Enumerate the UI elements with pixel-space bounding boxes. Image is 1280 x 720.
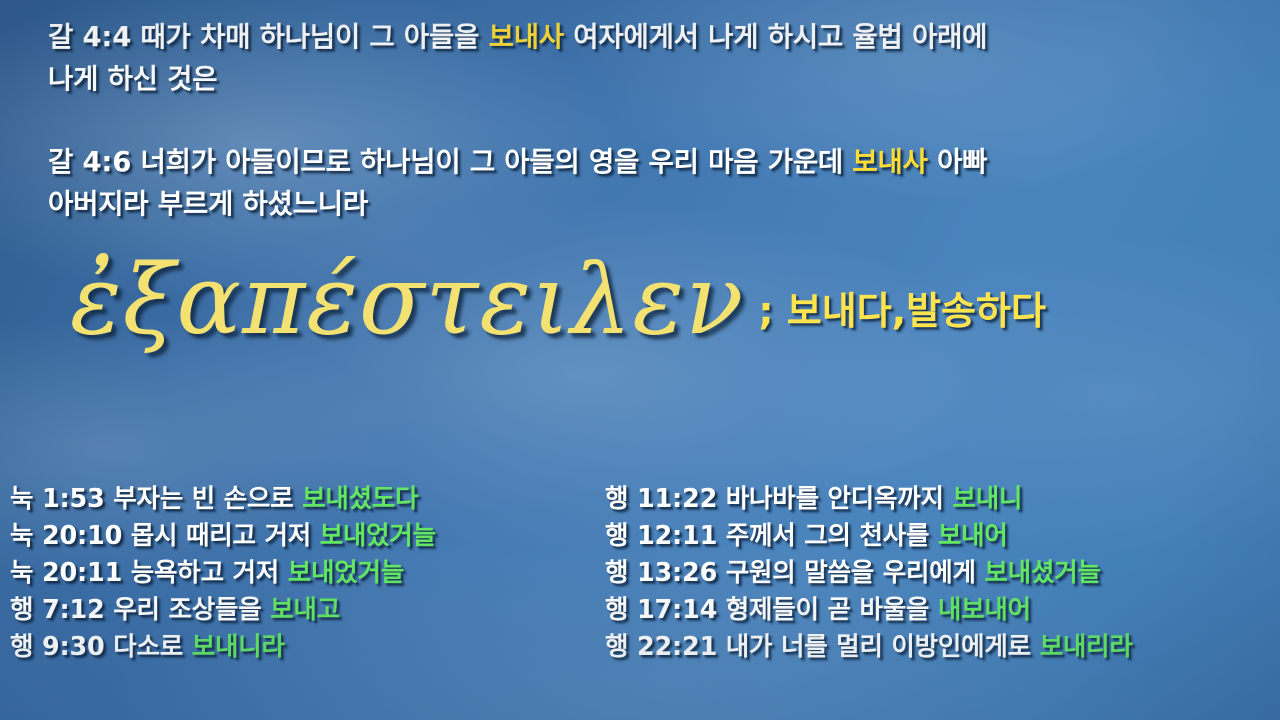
verse-galatians-4-6: 갈 4:6 너희가 아들이므로 하나님이 그 아들의 영을 우리 마음 가운데 …	[48, 141, 1252, 225]
reference-line-3-segment-0: 행 7:12 우리 조상들을	[10, 595, 270, 625]
reference-line-0-segment-1: 보내셨도다	[302, 484, 418, 514]
reference-line: 행 11:22 바나바를 안디옥까지 보내니	[605, 481, 1133, 518]
reference-line-1-segment-0: 눅 20:10 몹시 때리고 거저	[10, 521, 320, 551]
reference-line-1-segment-1: 보내어	[938, 521, 1008, 551]
reference-line-2-segment-0: 눅 20:11 능욕하고 거저	[10, 558, 288, 588]
reference-line-3-segment-0: 행 17:14 형제들이 곧 바울을	[605, 595, 938, 625]
greek-word: ἐξαπέστειλεν	[70, 252, 744, 348]
presentation-slide: 갈 4:4 때가 차매 하나님이 그 아들을 보내사 여자에게서 나게 하시고 …	[0, 0, 1280, 720]
reference-column-right: 행 11:22 바나바를 안디옥까지 보내니행 12:11 주께서 그의 천사를…	[605, 481, 1133, 666]
greek-gloss: ; 보내다,발송하다	[758, 292, 1046, 348]
reference-line-2-segment-1: 보내었거늘	[288, 558, 404, 588]
verse-galatians-4-6-segment-0: 갈 4:6 너희가 아들이므로 하나님이 그 아들의 영을 우리 마음 가운데	[48, 146, 852, 178]
reference-line-4-segment-0: 행 22:21 내가 너를 멀리 이방인에게로	[605, 632, 1040, 662]
reference-line: 행 22:21 내가 너를 멀리 이방인에게로 보내리라	[605, 629, 1133, 666]
reference-line-3-segment-1: 보내고	[270, 595, 340, 625]
reference-line-2-segment-0: 행 13:26 구원의 말씀을 우리에게	[605, 558, 984, 588]
reference-line-0-segment-0: 행 11:22 바나바를 안디옥까지	[605, 484, 952, 514]
verse-galatians-4-4: 갈 4:4 때가 차매 하나님이 그 아들을 보내사 여자에게서 나게 하시고 …	[48, 16, 1252, 100]
reference-line: 눅 20:11 능욕하고 거저 보내었거늘	[10, 555, 436, 592]
reference-line-1-segment-0: 행 12:11 주께서 그의 천사를	[605, 521, 938, 551]
reference-line: 행 7:12 우리 조상들을 보내고	[10, 592, 436, 629]
verse-galatians-4-6-segment-1: 보내사	[852, 146, 927, 178]
reference-line-4-segment-1: 보내리라	[1040, 632, 1133, 662]
reference-line: 눅 20:10 몹시 때리고 거저 보내었거늘	[10, 518, 436, 555]
reference-line-0-segment-0: 눅 1:53 부자는 빈 손으로	[10, 484, 302, 514]
reference-line: 행 17:14 형제들이 곧 바울을 내보내어	[605, 592, 1133, 629]
reference-line: 행 12:11 주께서 그의 천사를 보내어	[605, 518, 1133, 555]
reference-line-4-segment-1: 보내니라	[192, 632, 285, 662]
reference-line: 행 13:26 구원의 말씀을 우리에게 보내셨거늘	[605, 555, 1133, 592]
reference-line-3-segment-1: 내보내어	[938, 595, 1031, 625]
reference-line-1-segment-1: 보내었거늘	[320, 521, 436, 551]
verse-galatians-4-4-segment-0: 갈 4:4 때가 차매 하나님이 그 아들을	[48, 21, 489, 53]
reference-line-4-segment-0: 행 9:30 다소로	[10, 632, 192, 662]
reference-line: 행 9:30 다소로 보내니라	[10, 629, 436, 666]
greek-headline: ἐξαπέστειλεν ; 보내다,발송하다	[70, 252, 1046, 348]
reference-line-0-segment-1: 보내니	[952, 484, 1022, 514]
reference-column-left: 눅 1:53 부자는 빈 손으로 보내셨도다눅 20:10 몹시 때리고 거저 …	[10, 481, 436, 666]
reference-line-2-segment-1: 보내셨거늘	[984, 558, 1100, 588]
reference-line: 눅 1:53 부자는 빈 손으로 보내셨도다	[10, 481, 436, 518]
verse-galatians-4-4-segment-1: 보내사	[489, 21, 564, 53]
